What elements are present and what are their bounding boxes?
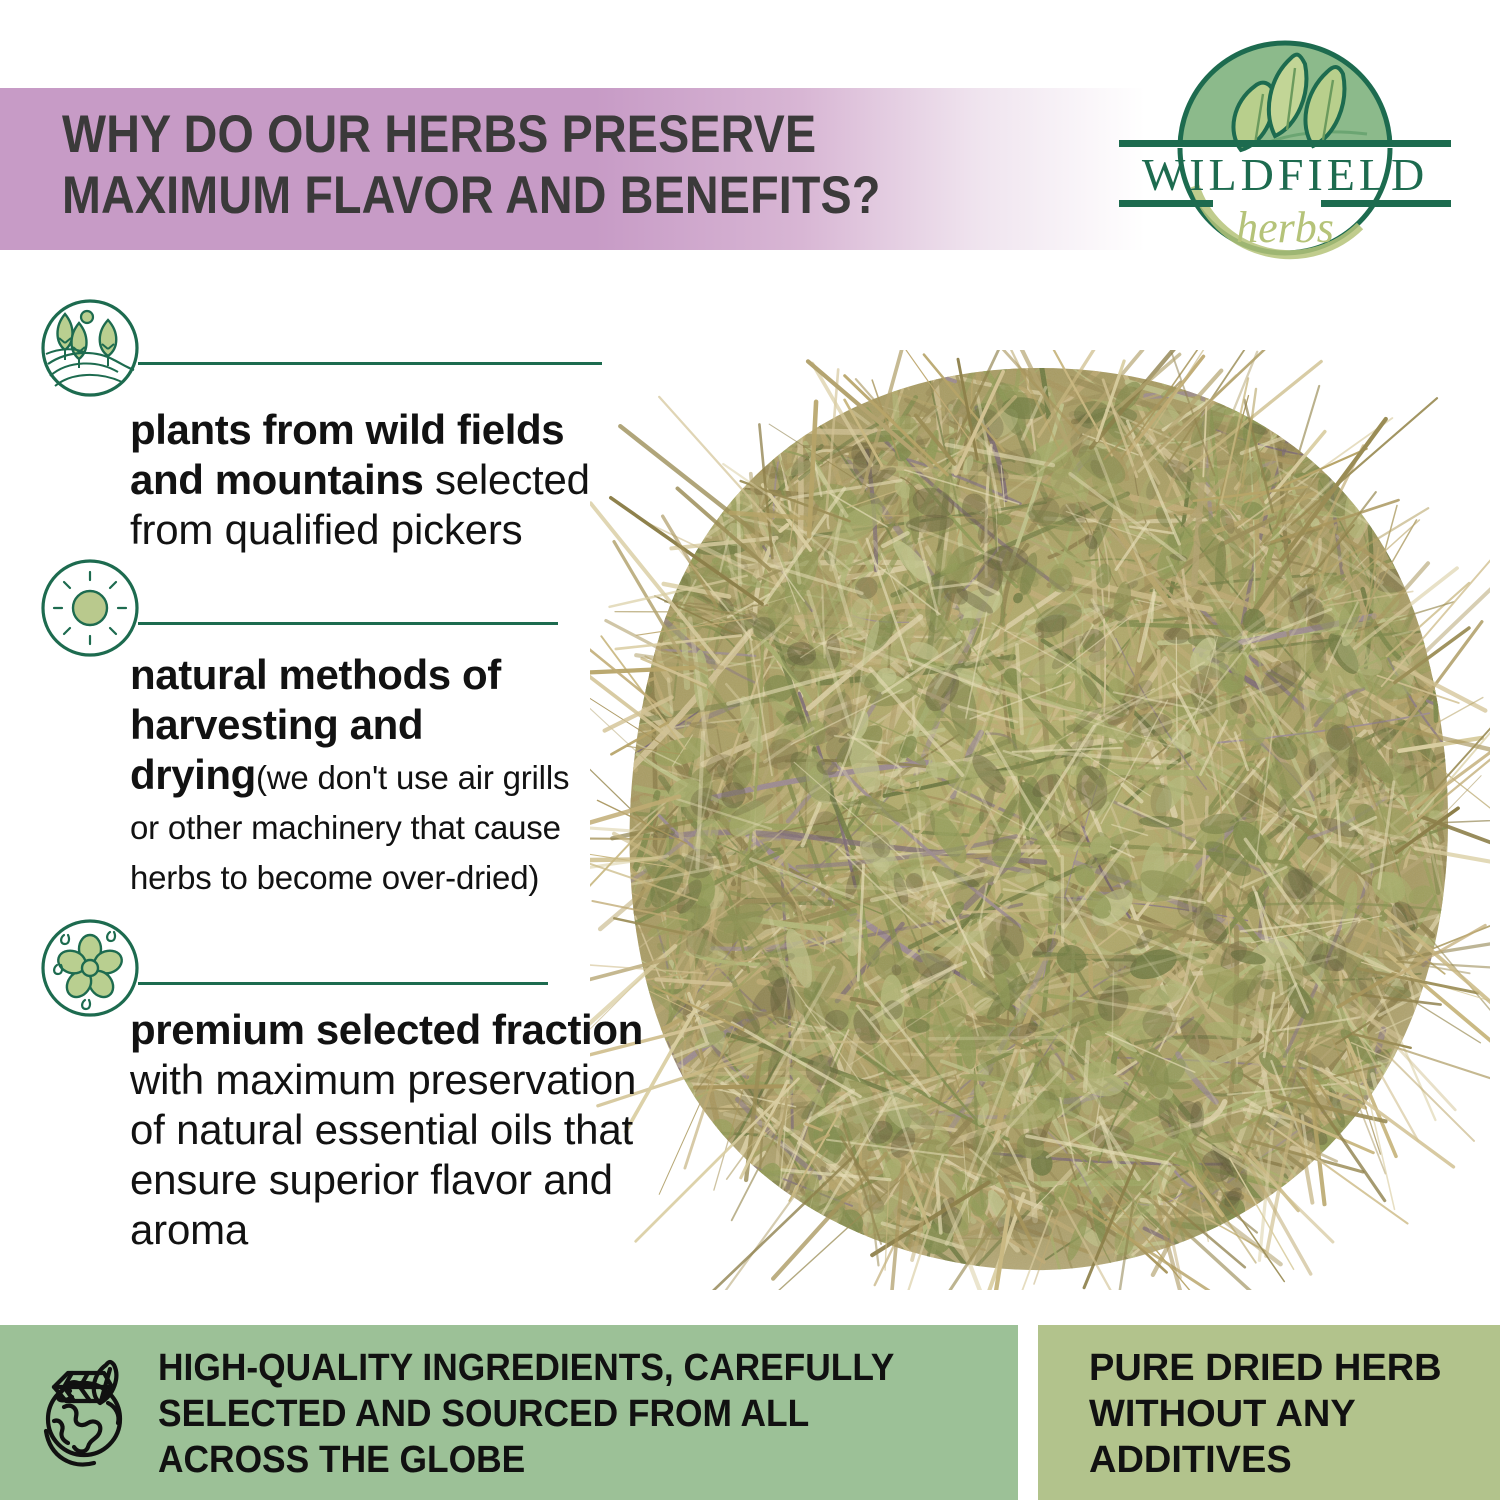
logo-sub-name: herbs [1236, 203, 1334, 252]
connector-line-1 [138, 362, 602, 365]
connector-line-3 [138, 982, 548, 985]
feature-2-text: natural methods of harvesting and drying… [130, 650, 570, 900]
page-title: WHY DO OUR HERBS PRESERVE MAXIMUM FLAVOR… [62, 104, 951, 226]
field-trees-icon [40, 298, 140, 398]
logo-svg: WILDFIELD herbs [1105, 28, 1465, 278]
flower-droplets-icon [40, 918, 140, 1018]
footer-right-text: Pure dried herb without any additives [1089, 1345, 1479, 1483]
feature-3-regular: with maximum preservation of natural ess… [130, 1056, 636, 1253]
feature-1-text: plants from wild fields and mountains se… [130, 405, 630, 555]
feature-3-text: premium selected fraction with maximum p… [130, 1005, 660, 1255]
feature-3-bold: premium selected fraction [130, 1006, 643, 1053]
globe-leaf-icon [28, 1345, 136, 1470]
logo-brand-name: WILDFIELD [1142, 149, 1428, 200]
sun-icon [40, 558, 140, 658]
herb-pile-svg [590, 350, 1490, 1290]
brand-logo: WILDFIELD herbs [1105, 28, 1465, 278]
dried-herb-pile-photo [590, 350, 1490, 1290]
footer-left-text: High-quality ingredients, carefully sele… [158, 1345, 930, 1483]
connector-line-2 [138, 622, 558, 625]
